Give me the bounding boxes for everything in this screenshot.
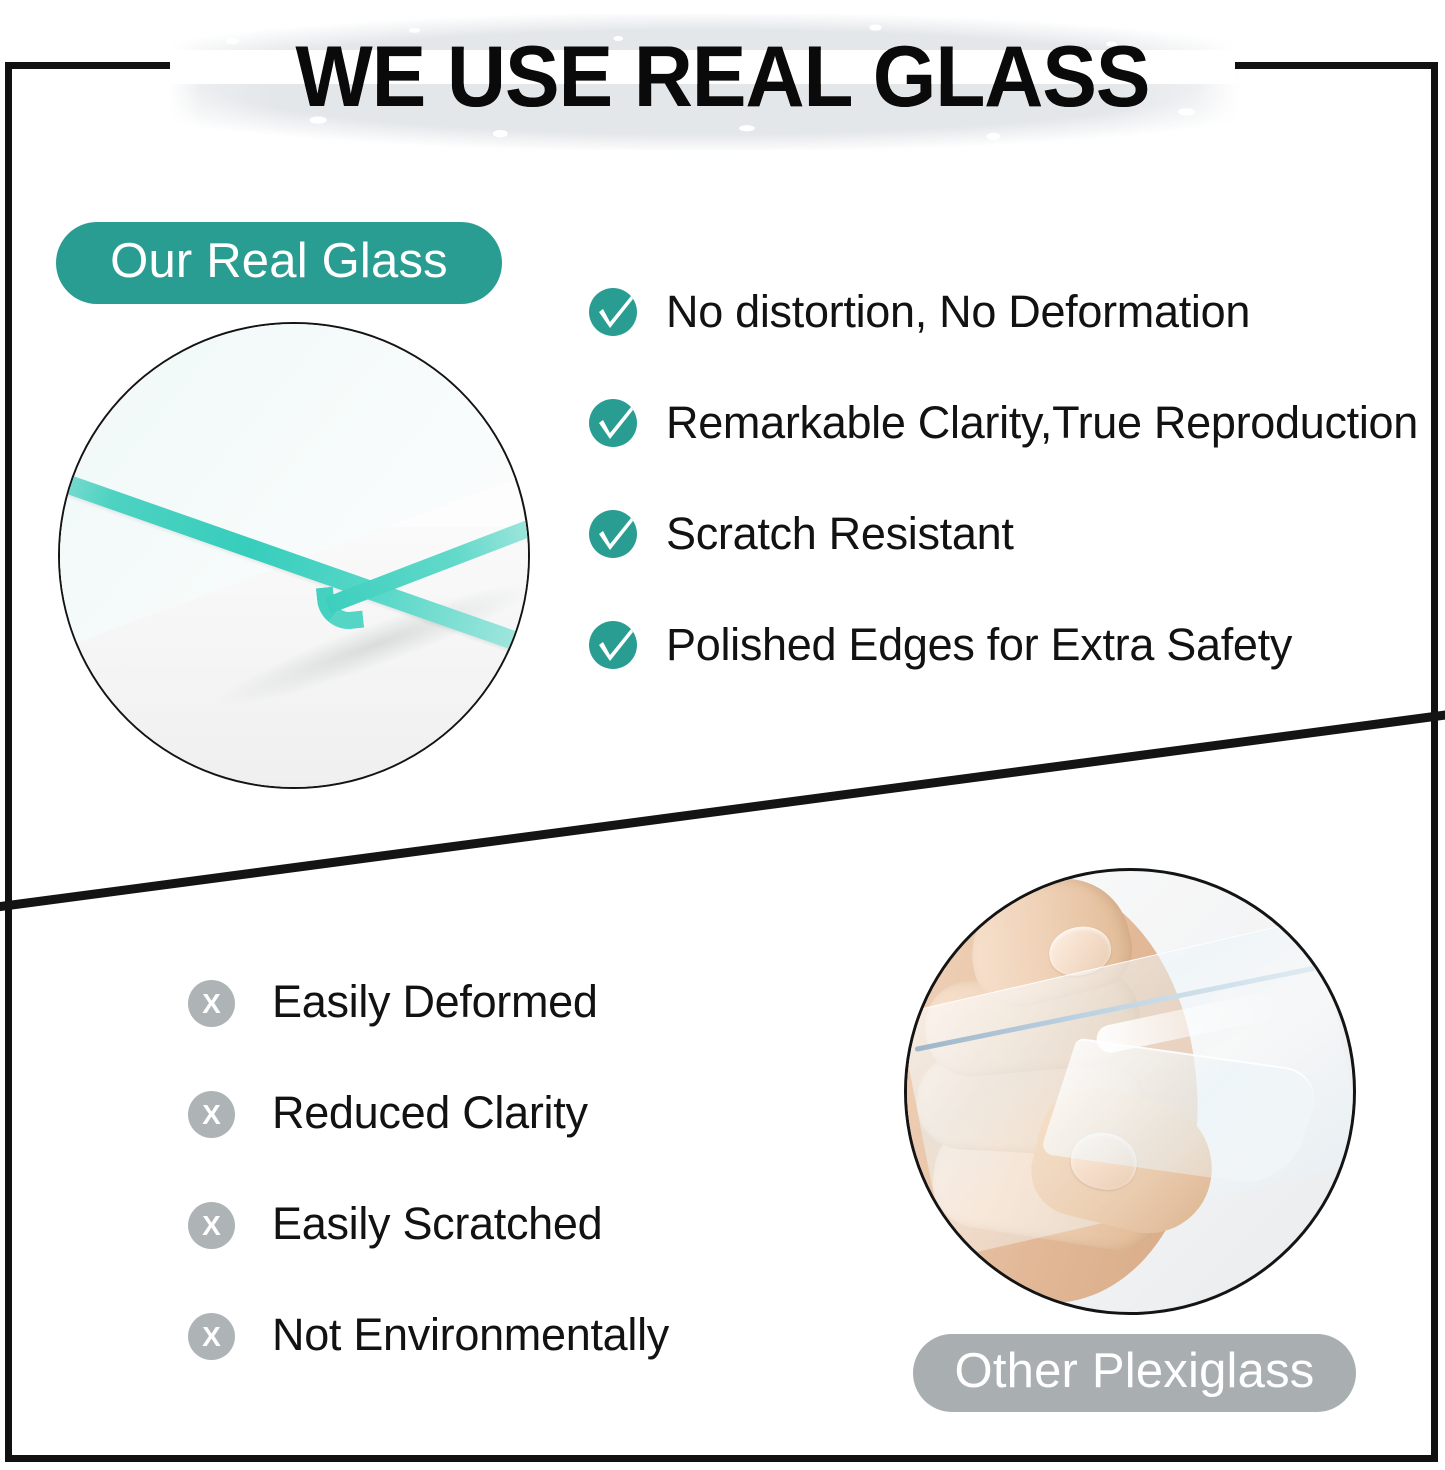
badge-our-real-glass: Our Real Glass xyxy=(56,222,502,304)
list-item: Scratch Resistant xyxy=(588,507,1438,618)
list-item: Remarkable Clarity,True Reproduction xyxy=(588,396,1438,507)
page-title-overlay: WE USE REAL GLASS xyxy=(36,34,1409,120)
list-item-label: No distortion, No Deformation xyxy=(666,277,1250,347)
drawbacks-list: X Easily Deformed X Reduced Clarity X Ea… xyxy=(188,978,888,1422)
check-icon xyxy=(588,620,638,670)
check-icon xyxy=(588,398,638,448)
list-item-label: Easily Scratched xyxy=(272,1189,602,1259)
list-item-label: Reduced Clarity xyxy=(272,1078,588,1148)
list-item: X Easily Deformed xyxy=(188,978,888,1089)
benefits-list: No distortion, No Deformation Remarkable… xyxy=(588,285,1438,729)
real-glass-photo xyxy=(58,322,530,789)
x-icon: X xyxy=(188,1091,235,1138)
list-item-label: Not Environmentally xyxy=(272,1300,669,1370)
infographic-canvas: WE USE REAL GLASS WE USE REAL GLASS Our … xyxy=(0,0,1445,1470)
check-icon xyxy=(588,287,638,337)
plexiglass-photo xyxy=(904,868,1356,1315)
check-icon xyxy=(588,509,638,559)
badge-other-plexiglass: Other Plexiglass xyxy=(913,1334,1356,1412)
list-item: No distortion, No Deformation xyxy=(588,285,1438,396)
list-item: Polished Edges for Extra Safety xyxy=(588,618,1438,729)
list-item-label: Easily Deformed xyxy=(272,967,598,1037)
list-item-label: Scratch Resistant xyxy=(666,499,1014,569)
list-item: X Easily Scratched xyxy=(188,1200,888,1311)
list-item-label: Polished Edges for Extra Safety xyxy=(666,610,1292,680)
x-icon: X xyxy=(188,980,235,1027)
list-item: X Not Environmentally xyxy=(188,1311,888,1422)
x-icon: X xyxy=(188,1202,235,1249)
x-icon: X xyxy=(188,1313,235,1360)
list-item: X Reduced Clarity xyxy=(188,1089,888,1200)
list-item-label: Remarkable Clarity,True Reproduction xyxy=(666,388,1418,458)
